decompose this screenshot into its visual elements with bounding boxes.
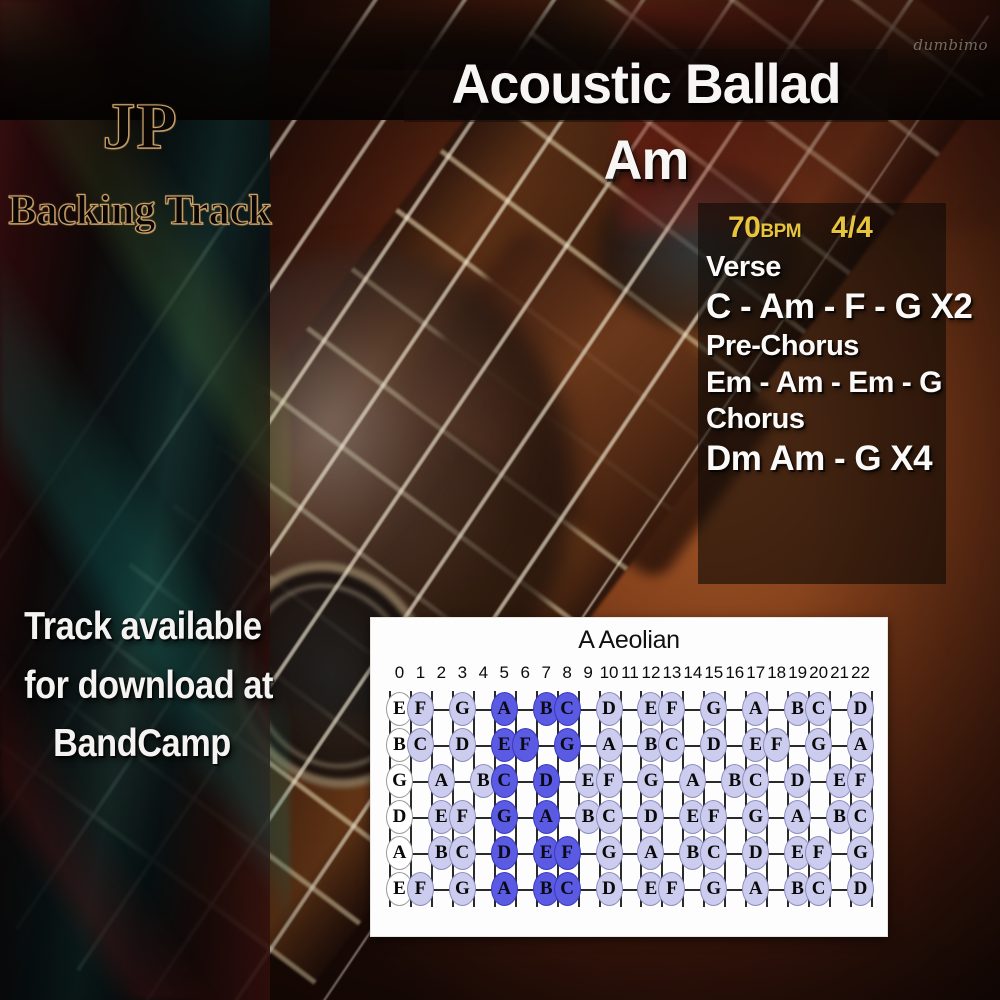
fretboard-note: C xyxy=(554,692,581,726)
fret-number: 2 xyxy=(437,663,446,683)
promo-block: Track available for download at BandCamp xyxy=(24,598,260,774)
fretboard-note: G xyxy=(700,872,727,906)
fretboard-note: F xyxy=(658,872,685,906)
fretboard-note: C xyxy=(700,836,727,870)
fret-number: 21 xyxy=(830,663,849,683)
fretboard-grid: EFGABCDEFGABCDBCDEFGABCDEFGAGABCDEFGABCD… xyxy=(389,691,869,907)
fretboard-note: D xyxy=(596,692,623,726)
fretboard-note: A xyxy=(491,692,518,726)
fretboard-note: F xyxy=(763,728,790,762)
fretboard-note: C xyxy=(491,764,518,798)
fretboard-note: G xyxy=(847,836,874,870)
fretboard-note: F xyxy=(847,764,874,798)
fretboard-note: C xyxy=(554,872,581,906)
fretboard-note: C xyxy=(658,728,685,762)
fretboard-note: C xyxy=(805,872,832,906)
fretboard-note: A xyxy=(386,836,413,870)
fretboard-note: C xyxy=(805,692,832,726)
time-signature: 4/4 xyxy=(831,213,873,243)
fretboard-note: F xyxy=(407,692,434,726)
fret-wire xyxy=(766,691,768,907)
fretboard-note: G xyxy=(449,692,476,726)
fret-number: 8 xyxy=(562,663,571,683)
fret-number: 4 xyxy=(479,663,488,683)
fretboard-note: F xyxy=(407,872,434,906)
fretboard-note: F xyxy=(449,800,476,834)
watermark: dumbimo xyxy=(913,36,988,54)
fretboard-note: F xyxy=(700,800,727,834)
fretboard-note: F xyxy=(512,728,539,762)
fretboard-note: C xyxy=(449,836,476,870)
fret-number: 7 xyxy=(541,663,550,683)
tempo-value: 70BPM xyxy=(728,213,801,243)
fretboard-note: C xyxy=(847,800,874,834)
brand-initials: JP xyxy=(0,92,280,161)
fret-number: 13 xyxy=(662,663,681,683)
fret-wire xyxy=(578,691,580,907)
section-chords-verse: C - Am - F - G X2 xyxy=(706,286,946,329)
scale-title: A Aeolian xyxy=(371,626,887,655)
fretboard-note: G xyxy=(637,764,664,798)
fretboard-note: G xyxy=(554,728,581,762)
fret-number: 11 xyxy=(621,663,639,683)
fretboard-note: D xyxy=(847,872,874,906)
fretboard-note: G xyxy=(386,764,413,798)
fretboard-note: D xyxy=(742,836,769,870)
promo-line-1: Track available xyxy=(24,598,260,657)
promo-line-2: for download at xyxy=(24,657,260,716)
fret-number: 12 xyxy=(641,663,660,683)
fretboard-note: F xyxy=(554,836,581,870)
fret-wire xyxy=(682,691,684,907)
promo-line-3: BandCamp xyxy=(24,715,260,774)
section-label-prechorus: Pre-Chorus xyxy=(706,328,946,365)
fretboard-note: D xyxy=(637,800,664,834)
fretboard-note: G xyxy=(805,728,832,762)
fretboard-note: A xyxy=(596,728,623,762)
fretboard-note: C xyxy=(407,728,434,762)
fret-number: 1 xyxy=(416,663,425,683)
brand-block: JP Backing Track xyxy=(0,92,280,233)
fret-number-row: 012345678910111213141516171819202122 xyxy=(389,663,869,687)
fretboard-note: A xyxy=(428,764,455,798)
fretboard-note: D xyxy=(700,728,727,762)
fretboard-note: G xyxy=(700,692,727,726)
fret-number: 16 xyxy=(725,663,744,683)
fretboard-note: C xyxy=(742,764,769,798)
tempo-unit: BPM xyxy=(760,221,801,242)
fretboard-note: A xyxy=(847,728,874,762)
fret-wire xyxy=(724,691,726,907)
fret-number: 9 xyxy=(583,663,592,683)
fretboard-note: G xyxy=(742,800,769,834)
fretboard-note: D xyxy=(784,764,811,798)
fret-number: 5 xyxy=(500,663,509,683)
chord-sections: Verse C - Am - F - G X2 Pre-Chorus Em - … xyxy=(706,249,946,481)
fret-wire xyxy=(515,691,517,907)
fret-number: 17 xyxy=(746,663,765,683)
brand-subtitle: Backing Track xyxy=(0,189,280,233)
section-label-verse: Verse xyxy=(706,249,946,286)
fret-wire xyxy=(871,691,873,907)
fretboard-note: G xyxy=(491,800,518,834)
fretboard-note: D xyxy=(533,764,560,798)
fret-number: 15 xyxy=(704,663,723,683)
fretboard-note: A xyxy=(784,800,811,834)
fretboard-note: C xyxy=(596,800,623,834)
fretboard-note: D xyxy=(847,692,874,726)
fret-wire xyxy=(829,691,831,907)
fretboard-note: A xyxy=(679,764,706,798)
fretboard-note: G xyxy=(596,836,623,870)
fretboard-note: A xyxy=(742,872,769,906)
fretboard-note: D xyxy=(596,872,623,906)
fretboard-diagram-panel: A Aeolian 012345678910111213141516171819… xyxy=(370,617,888,937)
section-label-chorus: Chorus xyxy=(706,401,946,438)
poster-canvas: dumbimo JP Backing Track Track available… xyxy=(0,0,1000,1000)
fret-number: 10 xyxy=(600,663,619,683)
fret-number: 18 xyxy=(767,663,786,683)
tempo-number: 70 xyxy=(728,211,760,244)
fret-number: 14 xyxy=(683,663,702,683)
fretboard-note: A xyxy=(533,800,560,834)
section-chords-prechorus: Em - Am - Em - G xyxy=(706,365,946,402)
fretboard-note: D xyxy=(386,800,413,834)
fret-number: 20 xyxy=(809,663,828,683)
fretboard-note: F xyxy=(658,692,685,726)
fret-number: 0 xyxy=(395,663,404,683)
fretboard-note: D xyxy=(491,836,518,870)
fret-wire xyxy=(473,691,475,907)
page-title: Acoustic Ballad Am xyxy=(414,46,879,198)
fret-number: 3 xyxy=(458,663,467,683)
fret-number: 19 xyxy=(788,663,807,683)
fret-wire xyxy=(431,691,433,907)
fretboard-note: A xyxy=(637,836,664,870)
chord-chart-panel: 70BPM 4/4 Verse C - Am - F - G X2 Pre-Ch… xyxy=(698,203,946,584)
fret-number: 6 xyxy=(520,663,529,683)
fretboard-note: F xyxy=(596,764,623,798)
fretboard-note: D xyxy=(449,728,476,762)
fretboard-note: A xyxy=(742,692,769,726)
fretboard-note: F xyxy=(805,836,832,870)
fretboard-note: G xyxy=(449,872,476,906)
fretboard-note: A xyxy=(491,872,518,906)
fret-number: 22 xyxy=(851,663,870,683)
chord-chart-meta: 70BPM 4/4 xyxy=(706,213,946,243)
fret-wire xyxy=(620,691,622,907)
section-chords-chorus: Dm Am - G X4 xyxy=(706,438,946,481)
